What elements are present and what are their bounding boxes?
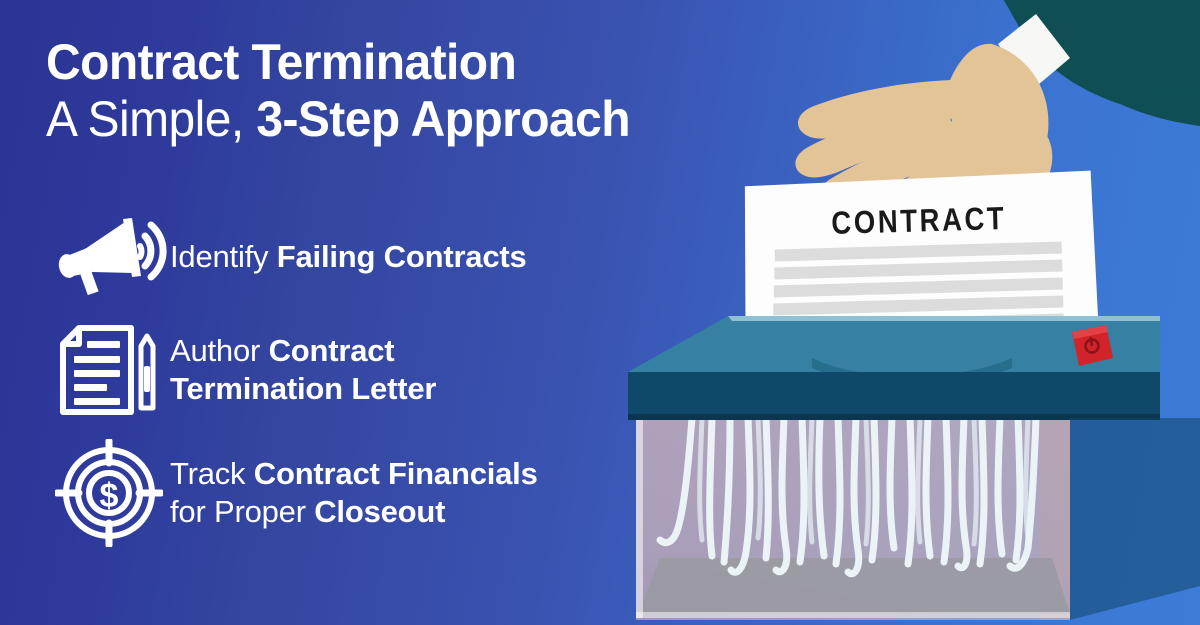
svg-text:$: $ bbox=[100, 477, 119, 515]
list-item-line-2: Termination Letter bbox=[170, 370, 436, 408]
document-pen-icon bbox=[48, 322, 170, 418]
list-item-label: Author Contract Termination Letter bbox=[170, 332, 436, 408]
step-1-bold-1: Failing Contracts bbox=[277, 239, 527, 274]
list-item: Identify Failing Contracts bbox=[48, 214, 688, 300]
list-item-line-1: Track Contract Financials bbox=[170, 455, 538, 493]
step-3-light-1: Track bbox=[170, 456, 254, 491]
list-item: $ Track Contract Financials for Proper C… bbox=[48, 440, 688, 546]
list-item: Author Contract Termination Letter bbox=[48, 318, 688, 422]
megaphone-icon bbox=[48, 216, 170, 298]
contract-paper-label: CONTRACT bbox=[831, 201, 1007, 241]
list-item-line-1: Identify Failing Contracts bbox=[170, 238, 527, 276]
list-item-line-1: Author Contract bbox=[170, 332, 436, 370]
step-3-bold-2: Closeout bbox=[314, 494, 445, 529]
step-3-bold-1: Contract Financials bbox=[254, 456, 538, 491]
step-2-bold-1: Contract bbox=[269, 333, 395, 368]
infographic-canvas: Contract Termination A Simple, 3-Step Ap… bbox=[0, 0, 1200, 625]
headline-line-2-light: A Simple, bbox=[46, 91, 256, 147]
step-2-bold-2: Termination Letter bbox=[170, 371, 436, 406]
step-2-light-1: Author bbox=[170, 333, 269, 368]
step-3-light-2: for Proper bbox=[170, 494, 314, 529]
target-dollar-icon: $ bbox=[48, 439, 170, 547]
step-1-light-1: Identify bbox=[170, 239, 277, 274]
list-item-line-2: for Proper Closeout bbox=[170, 493, 538, 531]
steps-list: Identify Failing Contracts bbox=[48, 214, 688, 546]
list-item-label: Identify Failing Contracts bbox=[170, 238, 527, 276]
shredder-shadow bbox=[1070, 418, 1200, 620]
headline-line-2-bold: 3-Step Approach bbox=[256, 91, 630, 147]
shredder-illustration: CONTRACT bbox=[600, 0, 1200, 625]
list-item-label: Track Contract Financials for Proper Clo… bbox=[170, 455, 538, 531]
